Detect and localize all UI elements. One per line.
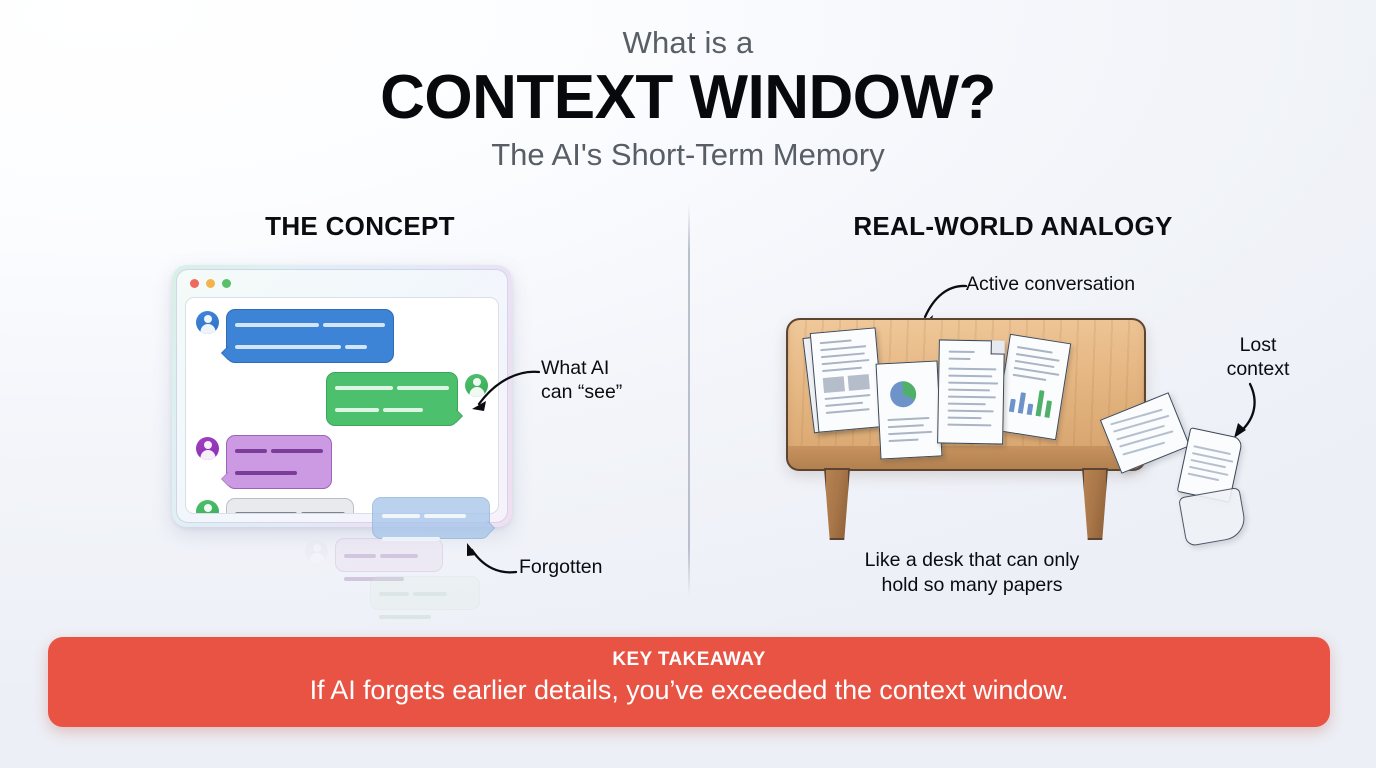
maximize-light-icon [222,279,231,288]
annotation-forgotten: Forgotten [519,556,602,580]
chat-bubble-purple [226,435,332,489]
page-header: What is a CONTEXT WINDOW? The AI's Short… [0,26,1376,173]
banner-title: KEY TAKEAWAY [48,649,1330,671]
desk-caption: Like a desk that can only hold so many p… [786,548,1158,598]
chat-bubble-green [326,372,458,426]
bar-chart-icon [1009,384,1057,419]
chat-bubble-blue [226,309,394,363]
annotation-active-conversation: Active conversation [966,273,1135,297]
forgotten-bubble [370,576,480,610]
chat-message-list [185,297,499,514]
chat-message-row [196,372,488,426]
chat-message-row [196,309,488,363]
desk-caption-line-2: hold so many papers [786,573,1158,598]
avatar [305,540,328,563]
desk-leg-left [824,468,850,540]
key-takeaway-banner: KEY TAKEAWAY If AI forgets earlier detai… [48,637,1330,727]
avatar [196,437,219,460]
section-divider [688,204,690,596]
chat-bubble-overflow [372,497,490,539]
desk-edge [786,446,1146,471]
annotation-lost-context: Lost context [1206,333,1310,382]
paper-document-front [937,339,1005,444]
header-subtitle: The AI's Short-Term Memory [0,137,1376,173]
chat-bubble-forgotten-2 [370,576,480,610]
chat-window-illustration [172,265,512,527]
chat-window-chrome [176,269,508,523]
chat-bubble-grey [226,498,354,514]
section-heading-concept: THE CONCEPT [180,211,540,242]
window-traffic-lights [185,277,499,294]
annotation-line-2: context [1206,357,1310,381]
desk-leg-right [1082,468,1108,540]
minimize-light-icon [206,279,215,288]
paper-document [810,327,884,432]
avatar [465,374,488,397]
falling-paper-3 [1178,487,1248,547]
annotation-line-1: What AI [541,357,661,381]
avatar [196,500,219,514]
close-light-icon [190,279,199,288]
section-heading-analogy: REAL-WORLD ANALOGY [832,211,1194,242]
avatar [196,311,219,334]
desk-caption-line-1: Like a desk that can only [786,548,1158,573]
desk-illustration [786,318,1158,540]
annotation-line-1: Lost [1206,333,1310,357]
page-title: CONTEXT WINDOW? [0,65,1376,132]
banner-text: If AI forgets earlier details, you’ve ex… [48,675,1330,706]
pie-chart-icon [890,381,917,408]
paper-document-pie-chart [876,360,943,459]
chat-message-row [196,435,488,489]
annotation-line-2: can “see” [541,381,661,405]
annotation-what-ai-can-see: What AI can “see” [541,357,661,405]
header-kicker: What is a [0,26,1376,60]
